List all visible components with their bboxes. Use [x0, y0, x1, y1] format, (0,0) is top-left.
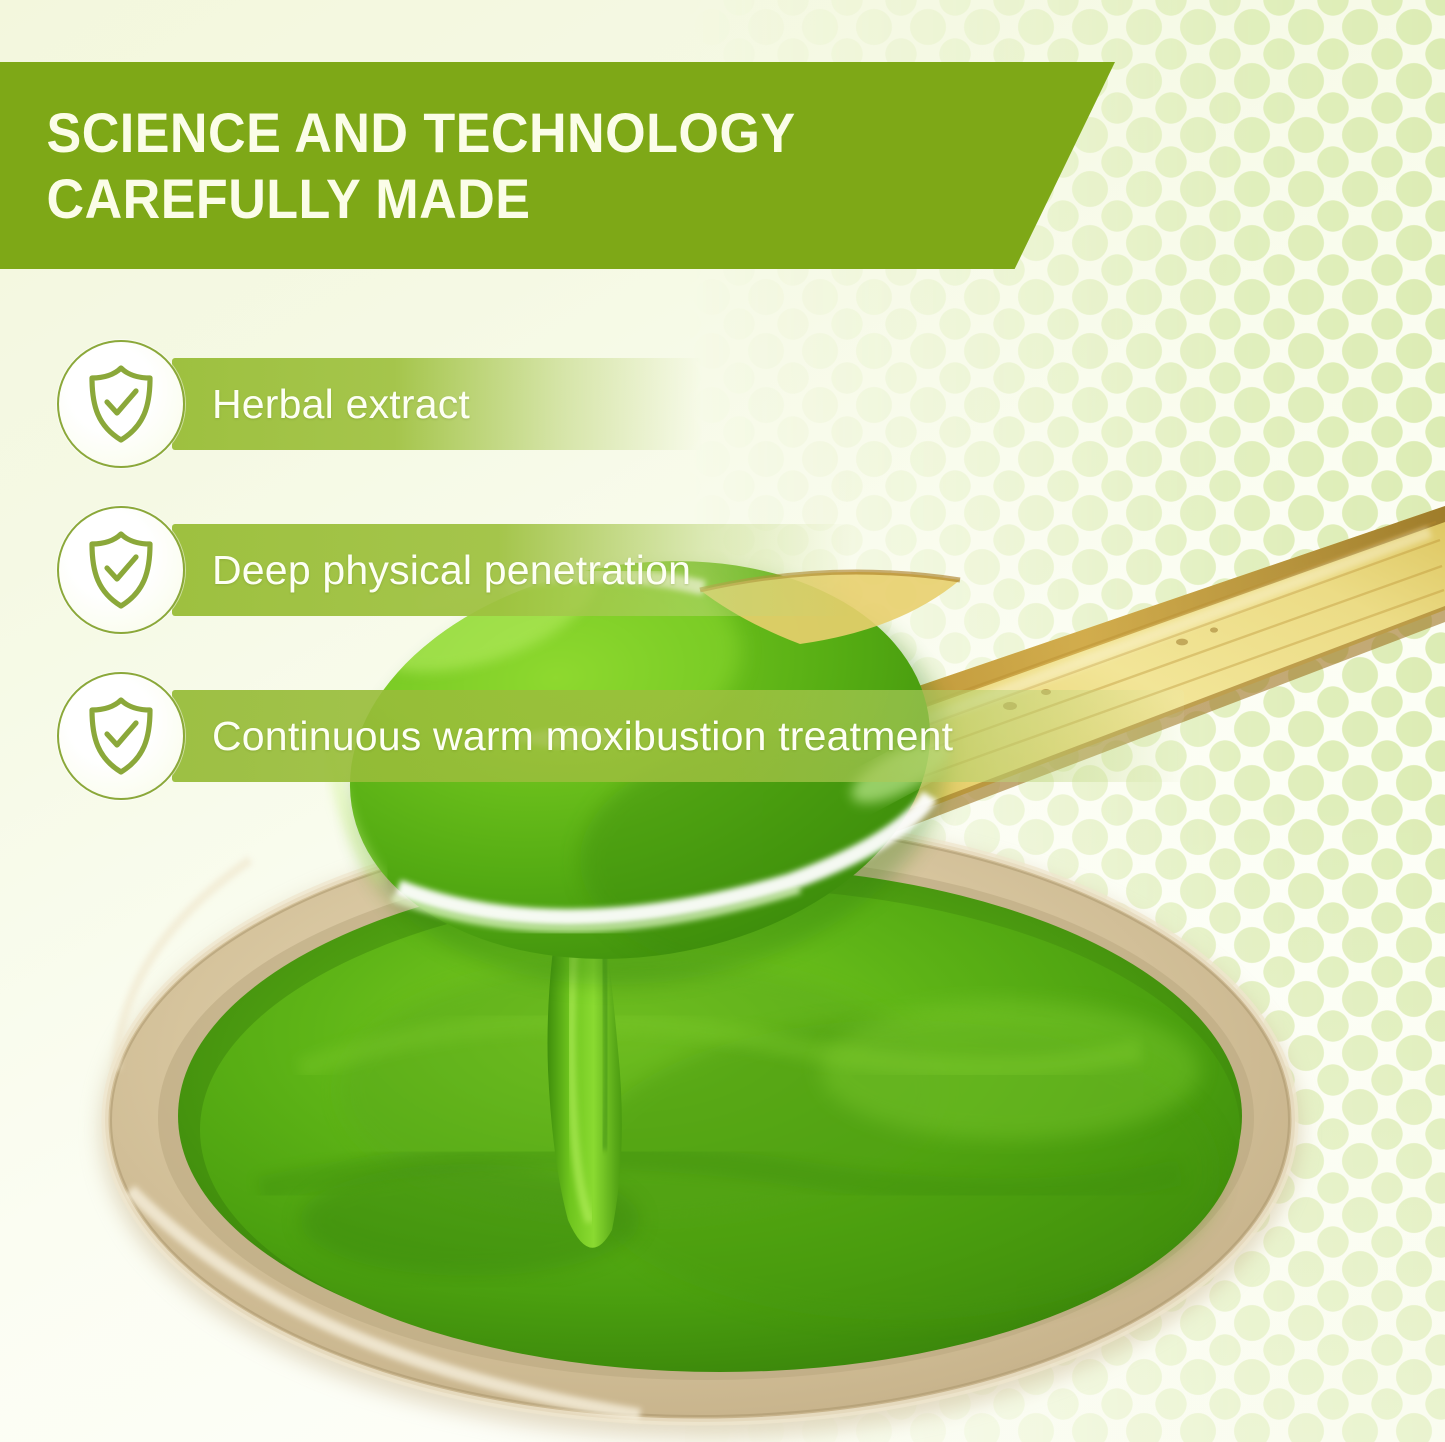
headline-title: SCIENCE AND TECHNOLOGY CAREFULLY MADE — [0, 100, 1037, 231]
shield-check-icon — [57, 340, 185, 468]
feature-label: Herbal extract — [212, 358, 470, 450]
shield-check-icon — [57, 672, 185, 800]
product-feature-poster: SCIENCE AND TECHNOLOGY CAREFULLY MADE He… — [0, 0, 1445, 1442]
feature-list: Herbal extract Deep physical penetration… — [0, 340, 1445, 838]
feature-row: Deep physical penetration — [0, 506, 1445, 634]
feature-row: Continuous warm moxibustion treatment — [0, 672, 1445, 800]
feature-label: Deep physical penetration — [212, 524, 691, 616]
feature-label: Continuous warm moxibustion treatment — [212, 690, 953, 782]
shield-check-icon — [57, 506, 185, 634]
feature-row: Herbal extract — [0, 340, 1445, 468]
headline-banner: SCIENCE AND TECHNOLOGY CAREFULLY MADE — [0, 62, 1115, 269]
